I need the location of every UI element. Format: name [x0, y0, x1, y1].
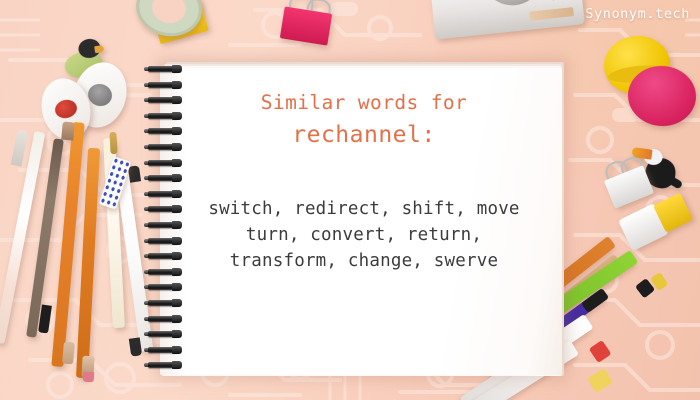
spiral-ring	[144, 300, 186, 307]
synonym-line: switch, redirect, shift, move	[180, 196, 548, 222]
synonym-list: switch, redirect, shift, move turn, conv…	[180, 196, 548, 274]
spiral-ring	[144, 284, 186, 291]
page-title: Similar words for	[180, 90, 548, 116]
spiral-ring	[144, 66, 186, 73]
screenshot-root: Synonym.tech	[0, 0, 700, 400]
spiral-ring	[144, 331, 186, 338]
spiral-ring	[144, 347, 186, 354]
site-logo: Synonym.tech	[585, 6, 690, 22]
notepad-content: Similar words for rechannel: switch, red…	[180, 90, 548, 274]
synonym-line: turn, convert, return,	[180, 222, 548, 248]
spiral-ring	[144, 362, 186, 369]
spiral-ring	[144, 316, 186, 323]
query-word: rechannel:	[180, 118, 548, 152]
marker-cluster-right	[590, 230, 700, 400]
synonym-line: transform, change, swerve	[180, 248, 548, 274]
spiral-ring	[144, 82, 186, 89]
